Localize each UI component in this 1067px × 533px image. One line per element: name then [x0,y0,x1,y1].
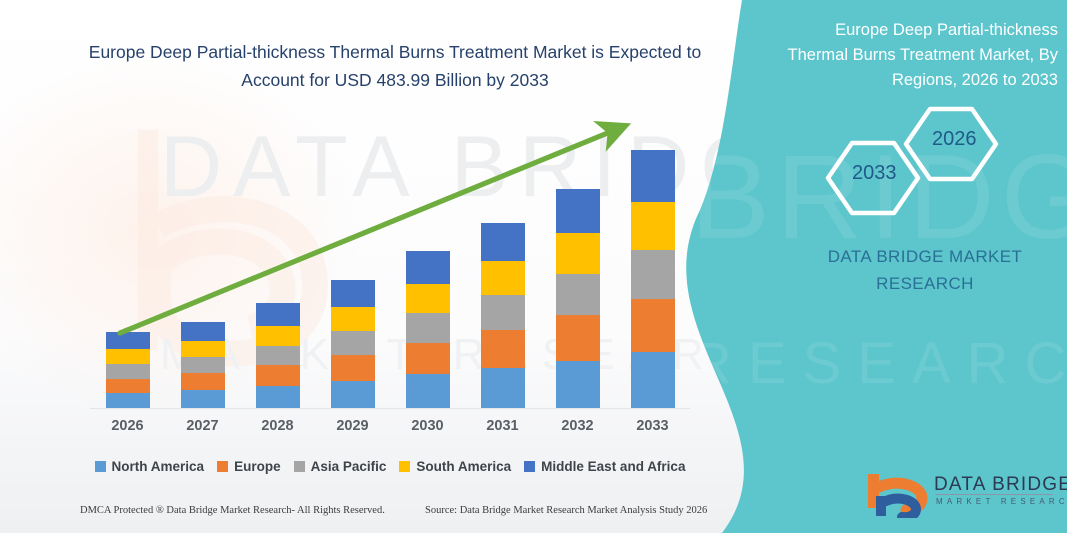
bar-segment-europe [106,379,150,394]
bar-segment-europe [556,315,600,360]
bar-segment-south-america [106,349,150,364]
bar-2027 [181,322,225,408]
panel-brand: DATA BRIDGE MARKET RESEARCH [790,243,1060,297]
bar-segment-middle-east-and-africa [331,280,375,307]
bar-segment-europe [256,365,300,386]
bar-segment-north-america [481,368,525,408]
bar-segment-europe [331,355,375,380]
bar-segment-south-america [406,284,450,313]
dbmr-logo-name: DATA BRIDGE [934,474,1067,496]
x-label-2032: 2032 [548,418,608,434]
dbmr-logo: DATA BRIDGE MARKET RESEARCH [862,470,1062,518]
bar-segment-north-america [406,374,450,408]
bar-segment-europe [631,299,675,353]
bar-segment-asia-pacific [106,364,150,379]
legend-swatch [294,461,305,472]
panel-brand-line1: DATA BRIDGE MARKET [790,243,1060,270]
bar-segment-asia-pacific [406,313,450,342]
teal-watermark-line2: RESEARCH [690,330,1067,397]
bar-segment-europe [406,343,450,375]
bar-2030 [406,251,450,408]
x-axis-labels: 20262027202820292030203120322033 [90,418,690,442]
x-label-2030: 2030 [398,418,458,434]
bar-segment-asia-pacific [181,357,225,373]
bar-segment-north-america [631,352,675,408]
hexagon-group: 2026 2033 [820,105,1030,225]
bar-segment-north-america [181,390,225,408]
legend-item-asia-pacific[interactable]: Asia Pacific [294,459,387,474]
bar-segment-south-america [556,233,600,274]
bar-segment-middle-east-and-africa [256,303,300,326]
panel-brand-line2: RESEARCH [790,270,1060,297]
bar-segment-middle-east-and-africa [481,223,525,261]
x-label-2028: 2028 [248,418,308,434]
legend-item-south-america[interactable]: South America [399,459,511,474]
legend-swatch [95,461,106,472]
bar-segment-middle-east-and-africa [556,189,600,233]
bar-segment-north-america [256,386,300,408]
legend-item-north-america[interactable]: North America [95,459,205,474]
legend-label: South America [416,459,511,474]
bar-2028 [256,303,300,408]
x-label-2027: 2027 [173,418,233,434]
bar-segment-south-america [256,326,300,346]
bar-2033 [631,150,675,408]
bar-segment-south-america [481,261,525,296]
bar-segment-asia-pacific [556,274,600,315]
chart-bars [90,110,690,408]
bar-segment-asia-pacific [481,295,525,330]
bar-segment-europe [481,330,525,368]
footer-source: Source: Data Bridge Market Research Mark… [425,505,707,516]
bar-2032 [556,189,600,408]
dbmr-logo-rule [935,494,1053,495]
x-label-2029: 2029 [323,418,383,434]
legend-label: Asia Pacific [311,459,387,474]
bar-segment-south-america [631,202,675,250]
legend-label: Europe [234,459,281,474]
x-label-2026: 2026 [98,418,158,434]
bar-segment-north-america [331,381,375,408]
infographic-slide: DATA BRIDGE MARKET RESEARCH Europe Deep … [0,0,1067,533]
legend-item-middle-east-and-africa[interactable]: Middle East and Africa [524,459,685,474]
bar-2029 [331,280,375,408]
bar-segment-europe [181,373,225,390]
bar-segment-asia-pacific [631,250,675,298]
x-axis-line [90,408,690,409]
x-label-2033: 2033 [623,418,683,434]
bar-segment-middle-east-and-africa [406,251,450,284]
legend-swatch [217,461,228,472]
bar-segment-south-america [331,307,375,331]
bar-segment-asia-pacific [331,331,375,355]
chart-legend: North AmericaEuropeAsia PacificSouth Ame… [90,455,690,477]
stacked-bar-chart [90,110,690,410]
bar-segment-asia-pacific [256,346,300,365]
hexagon-label-2033: 2033 [852,162,897,185]
dbmr-logo-tagline: MARKET RESEARCH [936,497,1067,506]
footer: DMCA Protected ® Data Bridge Market Rese… [0,505,740,529]
bar-segment-north-america [106,393,150,408]
legend-label: Middle East and Africa [541,459,685,474]
legend-swatch [399,461,410,472]
legend-label: North America [112,459,205,474]
legend-swatch [524,461,535,472]
bar-segment-middle-east-and-africa [181,322,225,341]
x-label-2031: 2031 [473,418,533,434]
dbmr-bridge-icon [862,470,932,518]
bar-segment-north-america [556,361,600,408]
bar-segment-south-america [181,341,225,358]
hexagon-label-2026: 2026 [932,128,977,151]
bar-2031 [481,223,525,408]
bar-segment-middle-east-and-africa [631,150,675,202]
panel-title: Europe Deep Partial-thickness Thermal Bu… [778,18,1058,93]
bar-segment-middle-east-and-africa [106,332,150,349]
bar-2026 [106,332,150,408]
legend-item-europe[interactable]: Europe [217,459,281,474]
footer-copyright: DMCA Protected ® Data Bridge Market Rese… [80,505,385,516]
page-title: Europe Deep Partial-thickness Thermal Bu… [60,38,730,94]
